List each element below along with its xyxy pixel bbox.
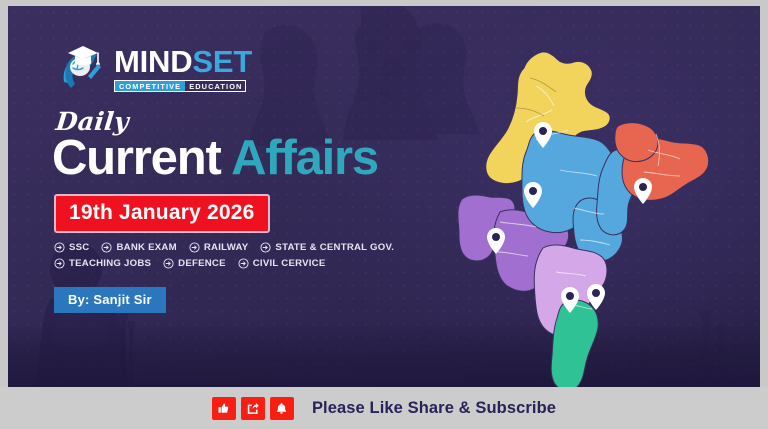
date-badge: 19th January 2026: [54, 194, 270, 233]
exam-category-item[interactable]: RAILWAY: [189, 242, 249, 253]
title-word-affairs: Affairs: [231, 131, 378, 185]
logo-wordmark: MINDSET: [114, 46, 252, 77]
exam-category-item[interactable]: STATE & CENTRAL GOV.: [260, 242, 394, 253]
share-icon: [246, 402, 259, 415]
subscribe-bell-button[interactable]: [270, 397, 294, 420]
bell-icon: [275, 402, 288, 415]
title-word-current: Current: [52, 131, 221, 185]
arrow-right-circle-icon: [260, 242, 271, 253]
footer-action-buttons: [212, 397, 294, 420]
logo-tagline-competitive: COMPETITIVE: [115, 81, 185, 91]
brand-logo[interactable]: MINDSET COMPETITIVE EDUCATION: [54, 42, 252, 92]
author-badge: By: Sanjit Sir: [54, 287, 166, 313]
logo-tagline: COMPETITIVE EDUCATION: [114, 80, 246, 92]
exam-category-list: SSC BANK EXAM RAILWAY STATE & CENTRAL GO…: [54, 242, 454, 274]
thumbs-up-icon: [217, 402, 230, 415]
share-button[interactable]: [241, 397, 265, 420]
graduation-cap-head-brain-icon: [54, 42, 110, 92]
current-affairs-poster: MINDSET COMPETITIVE EDUCATION Daily Curr…: [0, 0, 768, 429]
exam-category-item[interactable]: SSC: [54, 242, 89, 253]
arrow-right-circle-icon: [238, 258, 249, 269]
exam-category-item[interactable]: BANK EXAM: [101, 242, 176, 253]
exam-category-row-2: TEACHING JOBS DEFENCE CIVIL CERVICE: [54, 258, 454, 269]
exam-category-label: BANK EXAM: [116, 242, 176, 253]
footer-message: Please Like Share & Subscribe: [312, 399, 556, 418]
poster-stage: MINDSET COMPETITIVE EDUCATION Daily Curr…: [8, 6, 760, 387]
exam-category-item[interactable]: TEACHING JOBS: [54, 258, 151, 269]
exam-category-label: STATE & CENTRAL GOV.: [275, 242, 394, 253]
arrow-right-circle-icon: [54, 242, 65, 253]
page-title: Current Affairs: [52, 134, 378, 183]
exam-category-label: TEACHING JOBS: [69, 258, 151, 269]
exam-category-item[interactable]: CIVIL CERVICE: [238, 258, 326, 269]
exam-category-label: RAILWAY: [204, 242, 249, 253]
arrow-right-circle-icon: [101, 242, 112, 253]
exam-category-label: SSC: [69, 242, 89, 253]
footer-bar: Please Like Share & Subscribe: [0, 387, 768, 429]
arrow-right-circle-icon: [54, 258, 65, 269]
map-region-northeast-arm: [615, 123, 658, 162]
arrow-right-circle-icon: [163, 258, 174, 269]
exam-category-label: DEFENCE: [178, 258, 226, 269]
exam-category-row-1: SSC BANK EXAM RAILWAY STATE & CENTRAL GO…: [54, 242, 454, 253]
logo-tagline-education: EDUCATION: [185, 81, 246, 91]
arrow-right-circle-icon: [189, 242, 200, 253]
india-map: [440, 22, 712, 352]
exam-category-item[interactable]: DEFENCE: [163, 258, 226, 269]
exam-category-label: CIVIL CERVICE: [253, 258, 326, 269]
logo-word-mind: MIND: [114, 44, 192, 79]
logo-word-set: SET: [192, 44, 252, 79]
like-button[interactable]: [212, 397, 236, 420]
